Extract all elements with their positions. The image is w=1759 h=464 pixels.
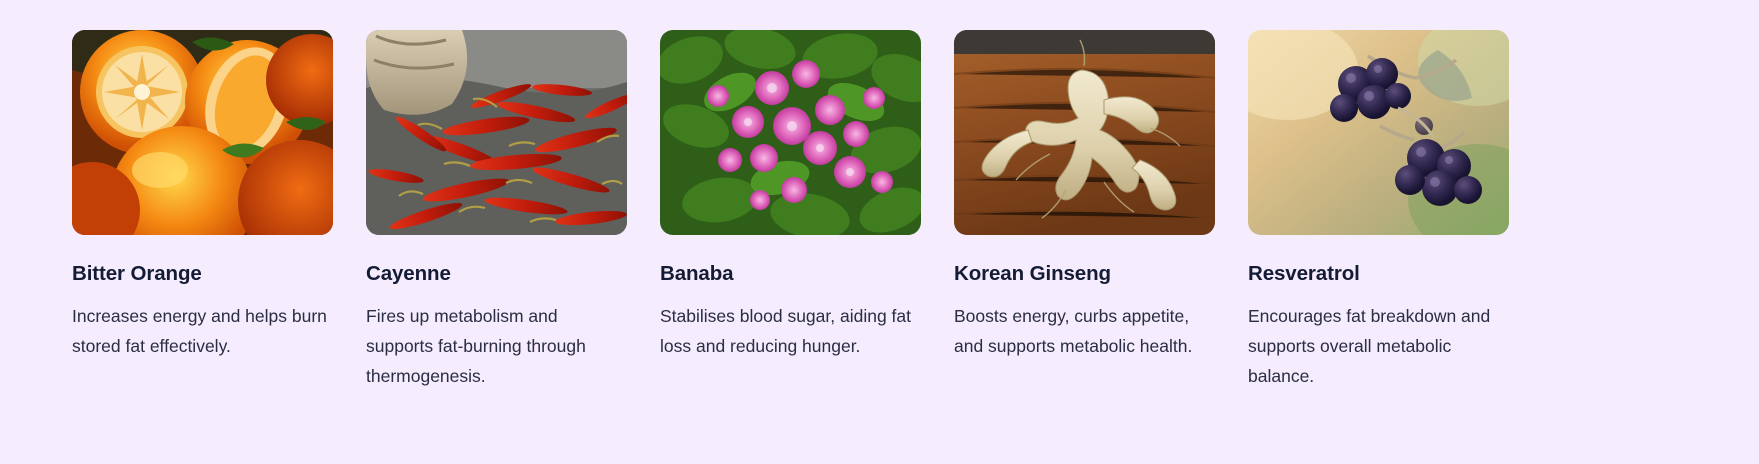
resveratrol-photo (1248, 30, 1509, 235)
card-title: Resveratrol (1248, 262, 1360, 287)
ingredient-card[interactable]: Korean Ginseng Boosts energy, curbs appe… (954, 30, 1215, 361)
banaba-photo (660, 30, 921, 235)
card-title: Korean Ginseng (954, 262, 1111, 287)
ingredients-grid: Bitter Orange Increases energy and helps… (0, 0, 1759, 464)
card-description: Boosts energy, curbs appetite, and suppo… (954, 301, 1215, 361)
card-description: Fires up metabolism and supports fat-bur… (366, 301, 627, 391)
bitter-orange-photo (72, 30, 333, 235)
card-description: Increases energy and helps burn stored f… (72, 301, 333, 361)
card-title: Bitter Orange (72, 262, 202, 287)
korean-ginseng-photo (954, 30, 1215, 235)
card-title: Cayenne (366, 262, 451, 287)
card-description: Stabilises blood sugar, aiding fat loss … (660, 301, 921, 361)
card-description: Encourages fat breakdown and supports ov… (1248, 301, 1509, 391)
ingredient-card[interactable]: Cayenne Fires up metabolism and supports… (366, 30, 627, 391)
cayenne-photo (366, 30, 627, 235)
ingredient-card[interactable]: Resveratrol Encourages fat breakdown and… (1248, 30, 1509, 391)
ingredient-card[interactable]: Banaba Stabilises blood sugar, aiding fa… (660, 30, 921, 361)
card-title: Banaba (660, 262, 733, 287)
ingredient-card[interactable]: Bitter Orange Increases energy and helps… (72, 30, 333, 361)
